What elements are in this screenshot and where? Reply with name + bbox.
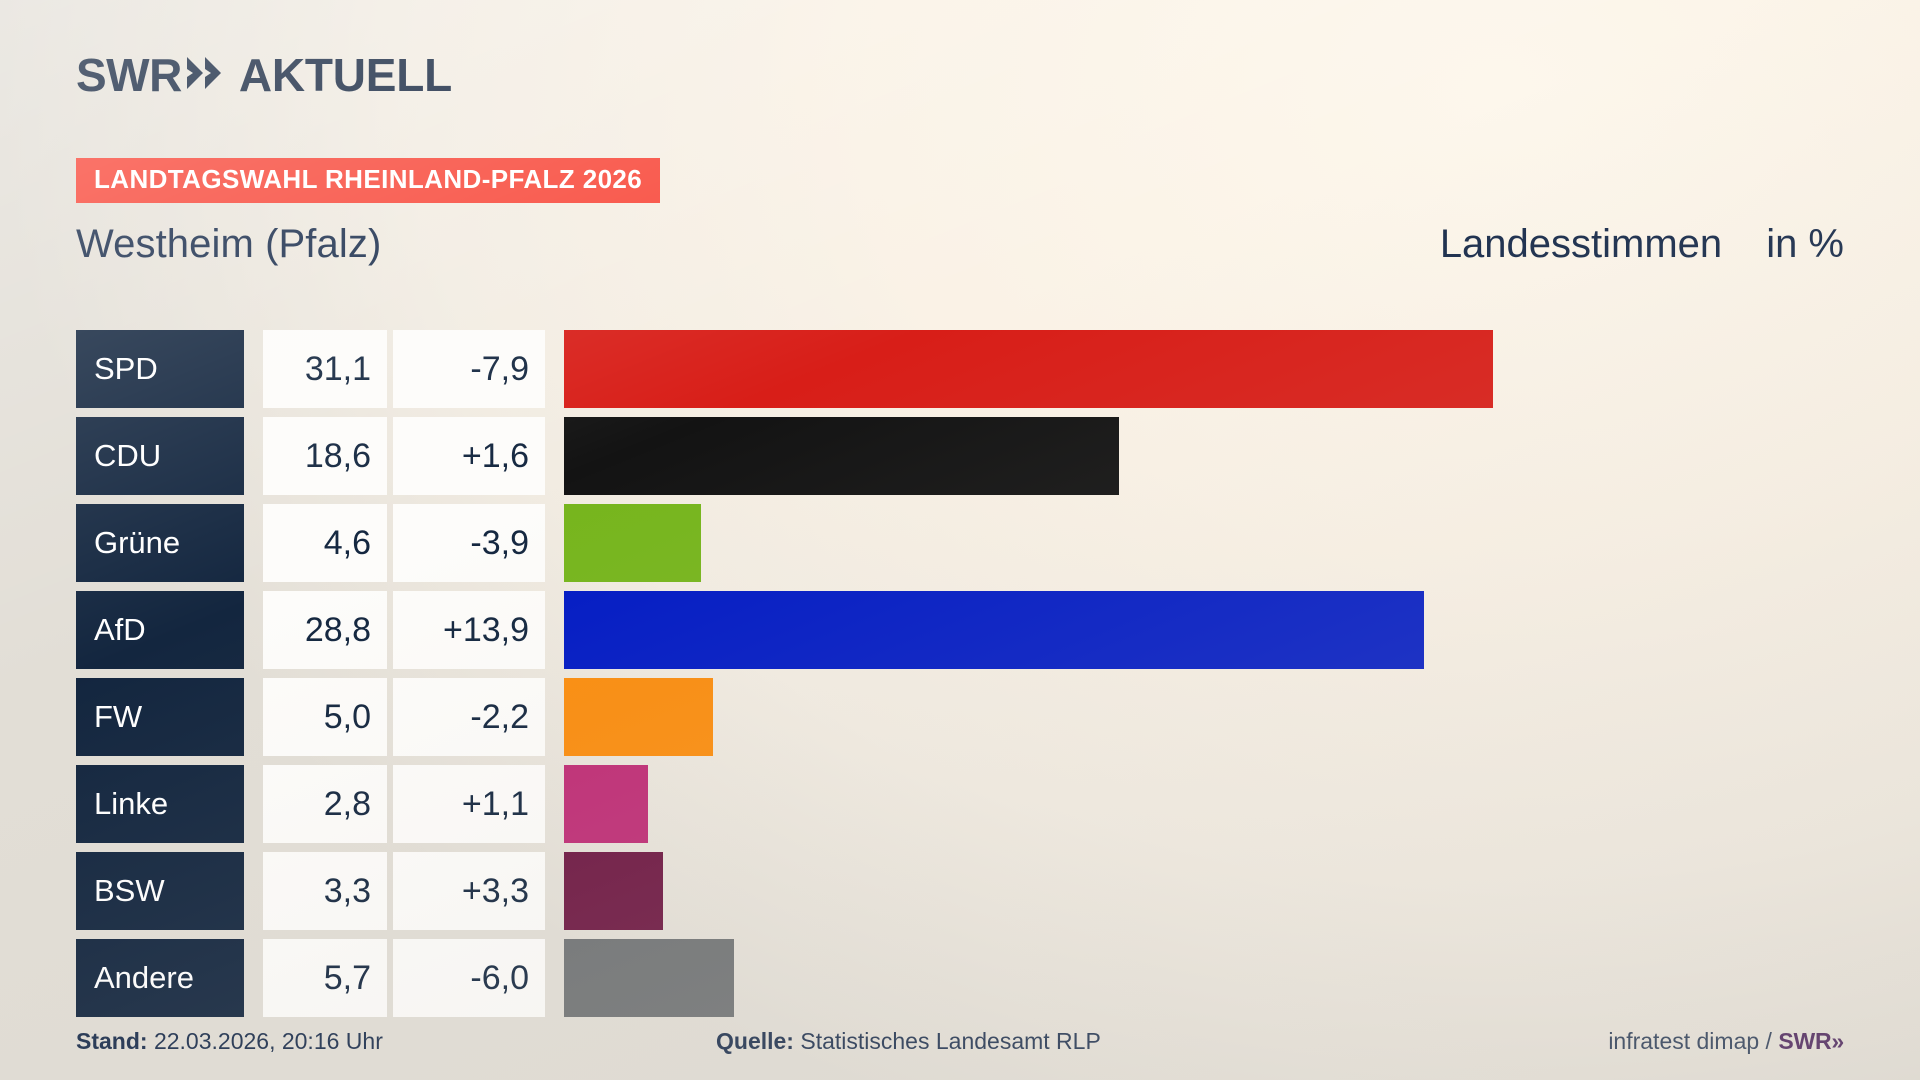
credit-swr-logo: SWR» [1778, 1028, 1844, 1054]
bar-track-cdu [564, 417, 1848, 495]
bar-track-afd [564, 591, 1848, 669]
stand-value: 22.03.2026, 20:16 Uhr [154, 1028, 383, 1054]
party-label-afd: AfD [76, 591, 244, 669]
party-label-spd: SPD [76, 330, 244, 408]
stand-info: Stand: 22.03.2026, 20:16 Uhr [76, 1028, 716, 1055]
table-row: SPD 31,1 -7,9 [76, 330, 1848, 408]
party-value-cdu: 18,6 [263, 417, 387, 495]
vote-type-label: Landesstimmen [1440, 222, 1722, 267]
table-row: FW 5,0 -2,2 [76, 678, 1848, 756]
party-value-fw: 5,0 [263, 678, 387, 756]
bar-afd [564, 591, 1424, 669]
party-label-gruene: Grüne [76, 504, 244, 582]
party-label-linke: Linke [76, 765, 244, 843]
bar-andere [564, 939, 734, 1017]
party-label-andere: Andere [76, 939, 244, 1017]
infographic-page: SWR AKTUELL LANDTAGSWAHL RHEINLAND-PFALZ… [0, 0, 1920, 1080]
bar-track-fw [564, 678, 1848, 756]
quelle-info: Quelle: Statistisches Landesamt RLP [716, 1028, 1608, 1055]
bar-track-gruene [564, 504, 1848, 582]
bar-spd [564, 330, 1493, 408]
vote-type-group: Landesstimmen in % [1440, 222, 1844, 267]
party-change-gruene: -3,9 [393, 504, 545, 582]
results-bar-chart: SPD 31,1 -7,9 CDU 18,6 +1,6 Grüne 4,6 -3… [76, 330, 1848, 1026]
party-label-bsw: BSW [76, 852, 244, 930]
party-change-bsw: +3,3 [393, 852, 545, 930]
logo-swr-wordmark: SWR [76, 52, 182, 98]
bar-gruene [564, 504, 701, 582]
party-value-spd: 31,1 [263, 330, 387, 408]
swr-aktuell-logo: SWR AKTUELL [76, 52, 452, 98]
logo-aktuell-wordmark: AKTUELL [239, 52, 452, 98]
bar-bsw [564, 852, 663, 930]
quelle-label: Quelle: [716, 1028, 794, 1054]
bar-track-andere [564, 939, 1848, 1017]
region-name: Westheim (Pfalz) [76, 222, 381, 267]
brand-header: SWR AKTUELL [76, 52, 452, 98]
table-row: AfD 28,8 +13,9 [76, 591, 1848, 669]
party-value-afd: 28,8 [263, 591, 387, 669]
double-chevron-icon [185, 53, 229, 97]
credit-agency: infratest dimap / [1608, 1028, 1778, 1054]
bar-track-bsw [564, 852, 1848, 930]
bar-fw [564, 678, 713, 756]
table-row: CDU 18,6 +1,6 [76, 417, 1848, 495]
bar-linke [564, 765, 648, 843]
stand-label: Stand: [76, 1028, 148, 1054]
party-change-andere: -6,0 [393, 939, 545, 1017]
party-change-afd: +13,9 [393, 591, 545, 669]
party-value-bsw: 3,3 [263, 852, 387, 930]
quelle-value: Statistisches Landesamt RLP [800, 1028, 1100, 1054]
party-label-fw: FW [76, 678, 244, 756]
party-change-fw: -2,2 [393, 678, 545, 756]
footer: Stand: 22.03.2026, 20:16 Uhr Quelle: Sta… [76, 1028, 1844, 1055]
party-value-andere: 5,7 [263, 939, 387, 1017]
party-value-linke: 2,8 [263, 765, 387, 843]
bar-cdu [564, 417, 1119, 495]
table-row: Linke 2,8 +1,1 [76, 765, 1848, 843]
party-change-linke: +1,1 [393, 765, 545, 843]
bar-track-linke [564, 765, 1848, 843]
credit-info: infratest dimap / SWR» [1608, 1028, 1844, 1055]
subheader-row: Westheim (Pfalz) Landesstimmen in % [76, 222, 1844, 267]
party-label-cdu: CDU [76, 417, 244, 495]
election-banner: LANDTAGSWAHL RHEINLAND-PFALZ 2026 [76, 158, 660, 203]
party-value-gruene: 4,6 [263, 504, 387, 582]
table-row: BSW 3,3 +3,3 [76, 852, 1848, 930]
unit-label: in % [1766, 222, 1844, 267]
bar-track-spd [564, 330, 1848, 408]
table-row: Grüne 4,6 -3,9 [76, 504, 1848, 582]
party-change-cdu: +1,6 [393, 417, 545, 495]
party-change-spd: -7,9 [393, 330, 545, 408]
table-row: Andere 5,7 -6,0 [76, 939, 1848, 1017]
